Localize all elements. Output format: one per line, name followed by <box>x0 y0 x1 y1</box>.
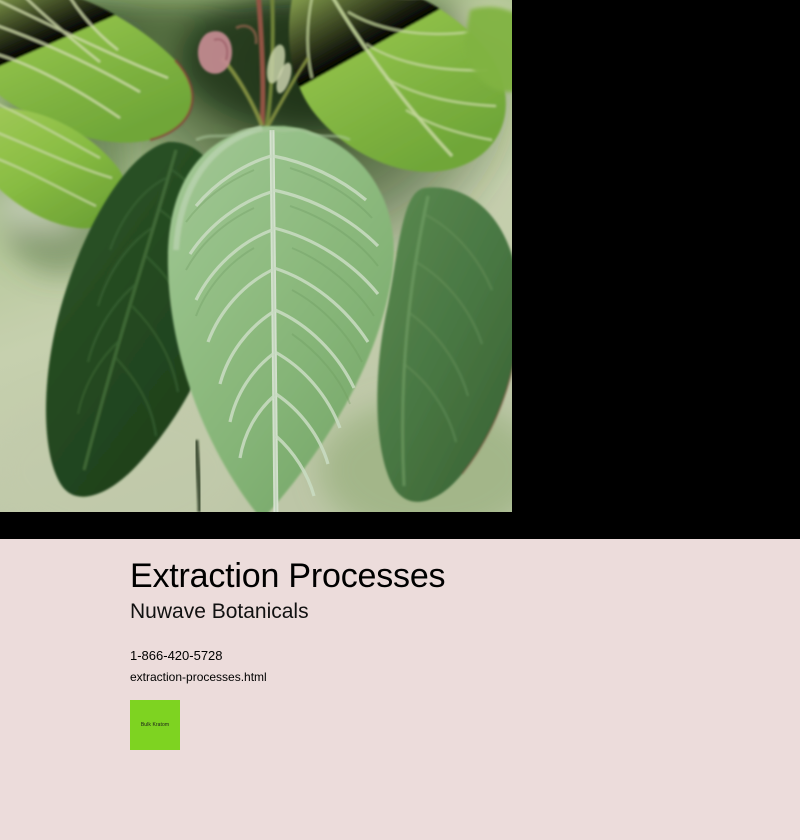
hero-banner <box>0 0 800 539</box>
content-section: Extraction Processes Nuwave Botanicals 1… <box>0 539 800 840</box>
page-subtitle: Nuwave Botanicals <box>130 599 309 625</box>
filename-label: extraction-processes.html <box>130 669 267 685</box>
bulk-kratom-button-label: Bulk Kratom <box>141 722 169 729</box>
kratom-leaves-photo <box>0 0 512 512</box>
bulk-kratom-button[interactable]: Bulk Kratom <box>130 700 180 750</box>
kratom-leaves-photo-graphic <box>0 0 512 512</box>
page-title: Extraction Processes <box>130 556 445 596</box>
page-root: Extraction Processes Nuwave Botanicals 1… <box>0 0 800 840</box>
phone-number: 1-866-420-5728 <box>130 647 223 665</box>
